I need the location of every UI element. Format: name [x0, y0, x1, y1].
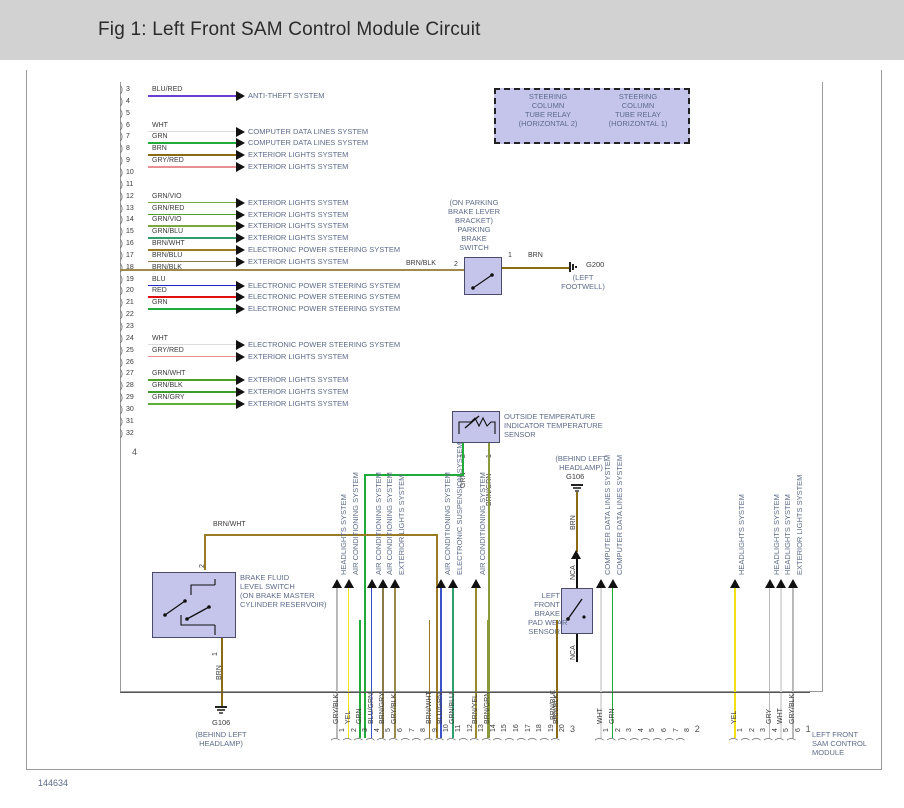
wire-label: GRN [152, 299, 168, 306]
wire-label: WHT [777, 708, 784, 724]
figure-header: Fig 1: Left Front SAM Control Module Cir… [0, 0, 904, 60]
relay-2-label: STEERING COLUMN TUBE RELAY (HORIZONTAL 2… [502, 92, 594, 128]
wire-arrow [788, 579, 798, 588]
connector-tooth: ) [376, 738, 386, 741]
system-label: EXTERIOR LIGHTS SYSTEM [248, 150, 348, 159]
wire-label: GRN/GRY [152, 394, 185, 401]
connector-tooth: ) [762, 738, 772, 741]
system-label: COMPUTER DATA LINES SYSTEM [615, 455, 624, 575]
wire-line [148, 95, 236, 97]
wire-label: GRY/BLK [333, 694, 340, 724]
g106-right-label: G106 [566, 472, 584, 481]
parking-brake-wire-out: BRN [528, 252, 543, 259]
wire-label: RED [152, 287, 167, 294]
wire-label: GRN/BLU [152, 228, 183, 235]
wire-label: GRN [356, 708, 363, 724]
wire-label: BLU [152, 276, 166, 283]
wire-arrow [730, 579, 740, 588]
system-label: ELECTRONIC POWER STEERING SYSTEM [248, 281, 400, 290]
wire-arrow [236, 198, 245, 208]
system-label: EXTERIOR LIGHTS SYSTEM [248, 233, 348, 242]
wire-arrow [236, 150, 245, 160]
wire-line [148, 237, 236, 239]
pin-number: 2 [351, 728, 358, 732]
wire-label: BLU/RED [152, 86, 182, 93]
wire-label: GRY/BLK [391, 694, 398, 724]
pin-number: 3 [362, 728, 369, 732]
connector-tooth: ) [550, 738, 560, 741]
pin-number: 6 [661, 728, 668, 732]
wire-arrow [436, 579, 446, 588]
wire-label: GRN/BLU [449, 693, 456, 724]
top-connector-id: 4 [132, 447, 137, 457]
pin-number: 13 [478, 724, 485, 732]
connector-tooth: ) [120, 84, 123, 94]
wire-arrow [765, 579, 775, 588]
wire-arrow [236, 162, 245, 172]
wire-label: YEL [731, 711, 738, 724]
system-label: AIR CONDITIONING SYSTEM [443, 472, 452, 575]
connector-tooth: ) [515, 738, 525, 741]
module-label: LEFT FRONT SAM CONTROL MODULE [812, 730, 867, 757]
pin-number: 8 [684, 728, 691, 732]
system-label: AIR CONDITIONING SYSTEM [385, 472, 394, 575]
pin-number: 5 [385, 728, 392, 732]
pad-wear-top-wire [576, 558, 578, 588]
system-label: EXTERIOR LIGHTS SYSTEM [795, 475, 804, 575]
wire-label: WHT [152, 122, 168, 129]
pin-number: 6 [126, 122, 130, 129]
wire-label: BRN/GRY [379, 692, 386, 724]
connector-tooth: ) [399, 738, 409, 741]
system-label: EXTERIOR LIGHTS SYSTEM [248, 352, 348, 361]
pin-number: 20 [126, 287, 134, 294]
connector-tooth: ) [492, 738, 502, 741]
brake-fluid-switch-box [152, 572, 236, 638]
pin-number: 17 [126, 252, 134, 259]
wire-line [148, 356, 236, 358]
wire-label: BRN/WHT [426, 691, 433, 724]
parking-brake-switch-caption: (ON PARKING BRAKE LEVER BRACKET) PARKING… [432, 198, 516, 252]
pin-number: 5 [649, 728, 656, 732]
connector-id: 2 [695, 724, 700, 734]
connector-tooth: ) [120, 238, 123, 248]
pin-number: 8 [420, 728, 427, 732]
wire-label: YEL [345, 711, 352, 724]
connector-tooth: ) [739, 738, 749, 741]
connector-tooth: ) [527, 738, 537, 741]
wire-arrow [236, 138, 245, 148]
wire-line [148, 285, 236, 287]
brake-fluid-wire-bottom: BRN [216, 665, 223, 680]
system-label: EXTERIOR LIGHTS SYSTEM [248, 257, 348, 266]
system-label: COMPUTER DATA LINES SYSTEM [248, 127, 368, 136]
connector-tooth: ) [786, 738, 796, 741]
wire-label: GRN [152, 133, 168, 140]
pin-number: 6 [795, 728, 802, 732]
system-label: ELECTRONIC POWER STEERING SYSTEM [248, 304, 400, 313]
system-label: HEADLIGHTS SYSTEM [772, 494, 781, 575]
connector-tooth: ) [120, 333, 123, 343]
wire-line [148, 225, 236, 227]
pin-number: 4 [126, 98, 130, 105]
pin-number: 14 [126, 216, 134, 223]
temp-sensor-box [452, 411, 500, 443]
wire-label: BRN/GRN [484, 692, 491, 724]
connector-tooth: ) [330, 738, 340, 741]
wire-line [148, 131, 236, 133]
pin-number: 13 [126, 205, 134, 212]
connector-tooth: ) [728, 738, 738, 741]
connector-tooth: ) [628, 738, 638, 741]
wire-arrow [471, 579, 481, 588]
pin-number: 7 [673, 728, 680, 732]
connector-tooth: ) [120, 131, 123, 141]
pin-number: 14 [490, 724, 497, 732]
connector-tooth: ) [341, 738, 351, 741]
connector-tooth: ) [120, 143, 123, 153]
wire-arrow [596, 579, 606, 588]
connector-tooth: ) [120, 309, 123, 319]
page-title: Fig 1: Left Front SAM Control Module Cir… [98, 19, 481, 41]
connector-tooth: ) [120, 214, 123, 224]
connector-tooth: ) [353, 738, 363, 741]
parking-brake-pin1: 1 [508, 252, 512, 259]
connector-tooth: ) [675, 738, 685, 741]
wire-label: GRY/RED [152, 157, 184, 164]
wire-arrow [367, 579, 377, 588]
brake-fluid-switch-caption: BRAKE FLUID LEVEL SWITCH (ON BRAKE MASTE… [240, 573, 327, 609]
wire-arrow [236, 281, 245, 291]
wire-arrow [390, 579, 400, 588]
pin-number: 5 [126, 110, 130, 117]
pad-wear-sensor-box [561, 588, 593, 634]
wire-arrow [236, 91, 245, 101]
connector-tooth: ) [774, 738, 784, 741]
pin-number: 25 [126, 347, 134, 354]
parking-brake-wire-in: BRN/BLK [406, 260, 436, 267]
system-label: ELECTRONIC POWER STEERING SYSTEM [248, 340, 400, 349]
float-switch-symbol [153, 573, 237, 639]
wire-arrow [236, 304, 245, 314]
pad-wear-wire-bottom: NCA [570, 645, 577, 660]
pin-number: 3 [126, 86, 130, 93]
wire-line [148, 391, 236, 393]
temp-sensor-grn-wire-drop [364, 474, 366, 738]
pin-number: 23 [126, 323, 134, 330]
pin-number: 24 [126, 335, 134, 342]
wire-label: BRN/YEL [472, 694, 479, 724]
connector-id: 1 [806, 724, 811, 734]
pin-number: 7 [126, 133, 130, 140]
g106-left-label: G106 [212, 718, 230, 727]
pin-number: 10 [126, 169, 134, 176]
g200-label: G200 [586, 260, 604, 269]
connector-tooth: ) [120, 191, 123, 201]
connector-tooth: ) [120, 368, 123, 378]
pin-number: 1 [603, 728, 610, 732]
wire-label: GRY/BLK [789, 694, 796, 724]
wire-arrow [236, 221, 245, 231]
pin-number: 4 [374, 728, 381, 732]
thermistor-symbol [453, 412, 501, 444]
connector-tooth: ) [364, 738, 374, 741]
pin-number: 30 [126, 406, 134, 413]
connector-tooth: ) [652, 738, 662, 741]
wire-arrow [236, 210, 245, 220]
connector-tooth: ) [480, 738, 490, 741]
wire-arrow [344, 579, 354, 588]
wire-label: GRY/RED [152, 347, 184, 354]
wire-arrow [236, 233, 245, 243]
g106-left-location: (BEHIND LEFT HEADLAMP) [186, 730, 256, 748]
wire-label: WHT [597, 708, 604, 724]
pin-number: 22 [126, 311, 134, 318]
connector-tooth: ) [120, 345, 123, 355]
wire-arrow [236, 352, 245, 362]
pin-number: 10 [443, 724, 450, 732]
wire-line [148, 308, 236, 310]
wire-label: GRN/WHT [152, 370, 185, 377]
system-label: EXTERIOR LIGHTS SYSTEM [397, 475, 406, 575]
wire-label: BLU/GRN [437, 693, 444, 724]
pin-number: 6 [397, 728, 404, 732]
pin-number: 28 [126, 382, 134, 389]
connector-tooth: ) [120, 321, 123, 331]
temp-sensor-caption: OUTSIDE TEMPERATURE INDICATOR TEMPERATUR… [504, 412, 603, 439]
wire-arrow [236, 340, 245, 350]
wire-label: BRN [152, 145, 167, 152]
wire-label: GRN/RED [152, 205, 184, 212]
brake-fluid-pin2: 2 [199, 564, 206, 568]
connector-tooth: ) [422, 738, 432, 741]
wire-label: GRN/BLK [152, 382, 183, 389]
connector-tooth: ) [751, 738, 761, 741]
pin-number: 31 [126, 418, 134, 425]
wire-arrow [776, 579, 786, 588]
pin-number: 26 [126, 359, 134, 366]
connector-tooth: ) [538, 738, 548, 741]
wire-label: BLU/GRN [368, 693, 375, 724]
relay-1-label: STEERING COLUMN TUBE RELAY (HORIZONTAL 1… [592, 92, 684, 128]
connector-tooth: ) [457, 738, 467, 741]
wire-line [148, 202, 236, 204]
system-label: AIR CONDITIONING SYSTEM [374, 472, 383, 575]
g106-right-wire-label: BRN [570, 515, 577, 530]
connector-tooth: ) [120, 380, 123, 390]
g200-location: (LEFT FOOTWELL) [548, 273, 618, 291]
wire-label: GRN/VIO [152, 193, 182, 200]
wire-label: WHT [152, 335, 168, 342]
pin-number: 4 [772, 728, 779, 732]
system-label: AIR CONDITIONING SYSTEM [478, 472, 487, 575]
pin-number: 19 [126, 276, 134, 283]
system-label: COMPUTER DATA LINES SYSTEM [603, 455, 612, 575]
connector-tooth: ) [120, 428, 123, 438]
system-label: ELECTRONIC POWER STEERING SYSTEM [248, 292, 400, 301]
brake-fluid-wire-top: BRN/WHT [213, 521, 246, 528]
system-label: EXTERIOR LIGHTS SYSTEM [248, 399, 348, 408]
connector-id: 3 [570, 724, 575, 734]
system-label: EXTERIOR LIGHTS SYSTEM [248, 221, 348, 230]
pad-wear-sensor-caption: LEFT FRONT BRAKE PAD WEAR SENSOR [528, 591, 560, 636]
connector-tooth: ) [120, 179, 123, 189]
system-label: EXTERIOR LIGHTS SYSTEM [248, 387, 348, 396]
system-label: ELECTRONIC POWER STEERING SYSTEM [248, 245, 400, 254]
wire-line [148, 379, 236, 381]
pin-number: 1 [339, 728, 346, 732]
wire-label: GRN/VIO [152, 216, 182, 223]
pin-number: 15 [501, 724, 508, 732]
connector-tooth: ) [120, 297, 123, 307]
pin-number: 15 [126, 228, 134, 235]
connector-tooth: ) [120, 250, 123, 260]
wire-label: BRN/BLU [152, 252, 182, 259]
connector-tooth: ) [605, 738, 615, 741]
system-label: EXTERIOR LIGHTS SYSTEM [248, 198, 348, 207]
system-label: ELECTRONIC SUSPENSION SYSTEM [455, 442, 464, 575]
connector-tooth: ) [120, 120, 123, 130]
wire-arrow [236, 257, 245, 267]
system-label: AIR CONDITIONING SYSTEM [351, 472, 360, 575]
connector-tooth: ) [120, 285, 123, 295]
pin-number: 9 [126, 157, 130, 164]
pin-number: 4 [638, 728, 645, 732]
pin-number: 2 [749, 728, 756, 732]
wire-line [148, 261, 236, 263]
wire-line [148, 214, 236, 216]
pin-number: 5 [783, 728, 790, 732]
system-label: EXTERIOR LIGHTS SYSTEM [248, 375, 348, 384]
connector-tooth: ) [120, 96, 123, 106]
pin-number: 12 [126, 193, 134, 200]
parking-brake-switch-box [464, 257, 502, 295]
connector-tooth: ) [640, 738, 650, 741]
pin-number: 20 [559, 724, 566, 732]
pin-number: 9 [432, 728, 439, 732]
wire-label: BRN/BLK [553, 694, 560, 724]
wire-line [148, 249, 236, 251]
wire-arrow [378, 579, 388, 588]
parking-brake-pin2: 2 [454, 261, 458, 268]
connector-tooth: ) [120, 357, 123, 367]
system-label: ANTI-THEFT SYSTEM [248, 91, 325, 100]
connector-tooth: ) [434, 738, 444, 741]
connector-tooth: ) [411, 738, 421, 741]
connector-tooth: ) [120, 108, 123, 118]
wire-arrow [608, 579, 618, 588]
wire-line [148, 344, 236, 346]
connector-tooth: ) [120, 226, 123, 236]
pin-number: 18 [536, 724, 543, 732]
wire-arrow [236, 399, 245, 409]
wire-arrow [448, 579, 458, 588]
wire-line [148, 166, 236, 168]
connector-tooth: ) [663, 738, 673, 741]
pin-number: 29 [126, 394, 134, 401]
pin-number: 17 [525, 724, 532, 732]
pin-number: 1 [737, 728, 744, 732]
pin-number: 7 [409, 728, 416, 732]
switch-symbol [465, 258, 503, 296]
connector-tooth: ) [120, 274, 123, 284]
pin-number: 11 [126, 181, 133, 188]
parking-brake-ground-wire [502, 267, 570, 269]
pin-number: 16 [126, 240, 134, 247]
wire-label: BRN/WHT [152, 240, 185, 247]
system-label: HEADLIGHTS SYSTEM [737, 494, 746, 575]
connector-tooth: ) [120, 404, 123, 414]
wire-arrow [236, 292, 245, 302]
connector-tooth: ) [469, 738, 479, 741]
pin-number: 32 [126, 430, 134, 437]
pin-number: 16 [513, 724, 520, 732]
connector-tooth: ) [120, 392, 123, 402]
system-label: HEADLIGHTS SYSTEM [339, 494, 348, 575]
pad-wear-symbol [562, 589, 594, 635]
wire-arrow [332, 579, 342, 588]
connector-tooth: ) [120, 167, 123, 177]
wire-label: GRY [766, 709, 773, 724]
wire-line [148, 403, 236, 405]
system-label: HEADLIGHTS SYSTEM [783, 494, 792, 575]
pin-number: 3 [760, 728, 767, 732]
wire-line [148, 142, 236, 144]
parking-brake-feed-wire [120, 269, 464, 271]
brake-fluid-pin1: 1 [212, 652, 219, 656]
pin-number: 19 [548, 724, 555, 732]
wire-arrow [236, 127, 245, 137]
wire-arrow [236, 387, 245, 397]
connector-tooth: ) [120, 203, 123, 213]
wire-label: GRN [609, 708, 616, 724]
pin-number: 21 [126, 299, 134, 306]
wire-arrow [236, 245, 245, 255]
system-label: EXTERIOR LIGHTS SYSTEM [248, 162, 348, 171]
system-label: EXTERIOR LIGHTS SYSTEM [248, 210, 348, 219]
pin-number: 12 [467, 724, 474, 732]
wire-line [148, 296, 236, 298]
pin-number: 2 [615, 728, 622, 732]
pin-number: 27 [126, 370, 134, 377]
connector-tooth: ) [617, 738, 627, 741]
wire-line [148, 154, 236, 156]
image-id: 144634 [38, 778, 68, 788]
connector-tooth: ) [120, 155, 123, 165]
connector-tooth: ) [120, 416, 123, 426]
connector-tooth: ) [388, 738, 398, 741]
diagram-sheet: 144634 )3BLU/REDANTI-THEFT SYSTEM)4)5)6W… [0, 60, 904, 808]
wire-arrow [236, 375, 245, 385]
connector-tooth: ) [446, 738, 456, 741]
pin-number: 11 [455, 725, 462, 732]
pin-number: 8 [126, 145, 130, 152]
connector-tooth: ) [594, 738, 604, 741]
pin-number: 3 [626, 728, 633, 732]
connector-tooth: ) [504, 738, 514, 741]
module-bottom-rule [120, 692, 810, 693]
system-label: COMPUTER DATA LINES SYSTEM [248, 138, 368, 147]
